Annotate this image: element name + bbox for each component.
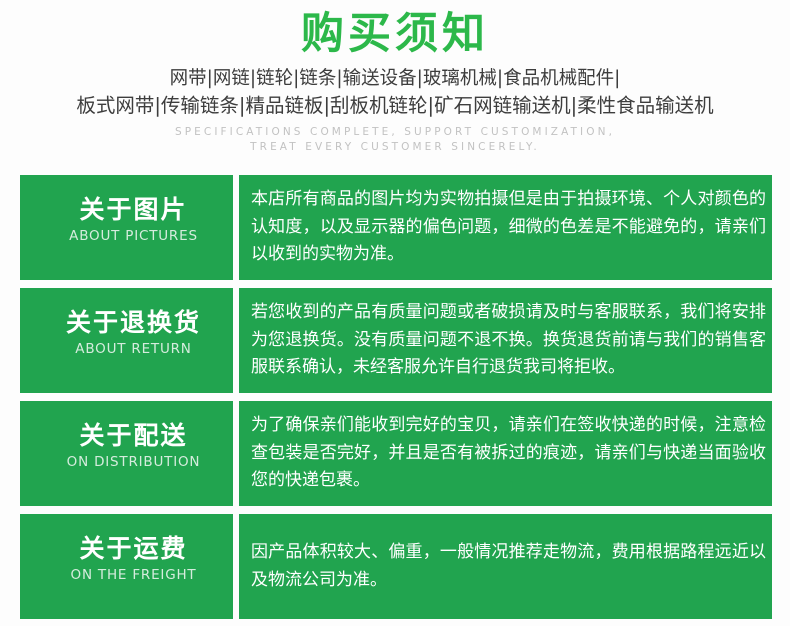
section-label-distribution: 关于配送 ON DISTRIBUTION: [20, 401, 233, 506]
section-body-text: 因产品体积较大、偏重，一般情况推荐走物流，费用根据路程远近以及物流公司为准。: [251, 539, 766, 594]
section-label-cn: 关于运费: [79, 534, 187, 564]
english-subtitle-line-2: TREAT EVERY CUSTOMER SINCERELY.: [0, 140, 790, 156]
category-line-2: 板式网带|传输链条|精品链板|刮板机链轮|矿石网链输送机|柔性食品输送机: [0, 92, 790, 120]
section-content-pictures: 本店所有商品的图片均为实物拍摄但是由于拍摄环境、个人对颜色的认知度，以及显示器的…: [239, 175, 772, 280]
section-label-freight: 关于运费 ON THE FREIGHT: [20, 514, 233, 619]
page-header: 购买须知 网带|网链|链轮|链条|输送设备|玻璃机械|食品机械配件| 板式网带|…: [0, 0, 790, 156]
section-label-cn: 关于图片: [79, 195, 187, 225]
section-body-text: 若您收到的产品有质量问题或者破损请及时与客服联系，我们将安排为您退换货。没有质量…: [251, 299, 766, 382]
section-label-cn: 关于配送: [79, 421, 187, 451]
page-title: 购买须知: [0, 8, 790, 66]
notice-sections: 关于图片 ABOUT PICTURES 本店所有商品的图片均为实物拍摄但是由于拍…: [20, 175, 772, 619]
section-content-distribution: 为了确保亲们能收到完好的宝贝，请亲们在签收快递的时候，注意检查包装是否完好，并且…: [239, 401, 772, 506]
category-line-1: 网带|网链|链轮|链条|输送设备|玻璃机械|食品机械配件|: [0, 66, 790, 92]
section-label-en: ON THE FREIGHT: [71, 565, 197, 585]
section-label-en: ABOUT PICTURES: [69, 226, 198, 246]
english-subtitle-line-1: SPECIFICATIONS COMPLETE, SUPPORT CUSTOMI…: [0, 120, 790, 141]
section-label-en: ON DISTRIBUTION: [67, 452, 201, 472]
notice-row-freight: 关于运费 ON THE FREIGHT 因产品体积较大、偏重，一般情况推荐走物流…: [20, 514, 772, 619]
notice-row-distribution: 关于配送 ON DISTRIBUTION 为了确保亲们能收到完好的宝贝，请亲们在…: [20, 401, 772, 506]
notice-row-return: 关于退换货 ABOUT RETURN 若您收到的产品有质量问题或者破损请及时与客…: [20, 288, 772, 393]
section-body-text: 为了确保亲们能收到完好的宝贝，请亲们在签收快递的时候，注意检查包装是否完好，并且…: [251, 412, 766, 495]
section-label-pictures: 关于图片 ABOUT PICTURES: [20, 175, 233, 280]
section-content-return: 若您收到的产品有质量问题或者破损请及时与客服联系，我们将安排为您退换货。没有质量…: [239, 288, 772, 393]
section-body-text: 本店所有商品的图片均为实物拍摄但是由于拍摄环境、个人对颜色的认知度，以及显示器的…: [251, 186, 766, 269]
notice-row-pictures: 关于图片 ABOUT PICTURES 本店所有商品的图片均为实物拍摄但是由于拍…: [20, 175, 772, 280]
section-label-en: ABOUT RETURN: [75, 339, 191, 359]
section-label-return: 关于退换货 ABOUT RETURN: [20, 288, 233, 393]
section-content-freight: 因产品体积较大、偏重，一般情况推荐走物流，费用根据路程远近以及物流公司为准。: [239, 514, 772, 619]
section-label-cn: 关于退换货: [66, 308, 201, 338]
